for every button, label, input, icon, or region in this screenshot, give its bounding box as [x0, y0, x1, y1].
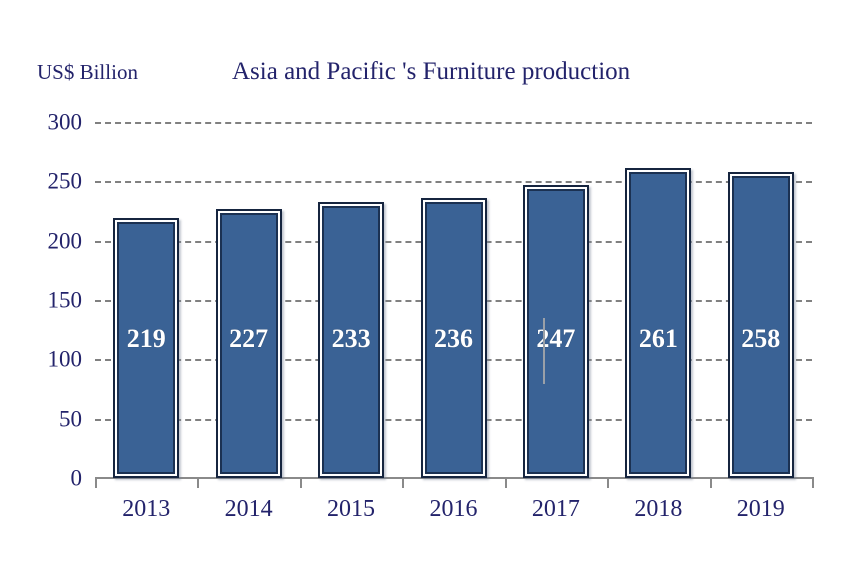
y-axis-tick-label: 0 [22, 467, 82, 490]
bar-value-label: 258 [730, 324, 792, 354]
y-axis-tick-label: 300 [22, 111, 82, 134]
bar[interactable]: 233 [318, 202, 384, 478]
bars-layer: 219227233236247261258 [95, 122, 812, 478]
bar-value-label: 233 [320, 324, 382, 354]
x-axis-tick [812, 477, 814, 488]
bar-value-label: 227 [218, 324, 280, 354]
x-axis-category-label: 2017 [505, 495, 607, 524]
x-axis-tick [95, 477, 97, 488]
y-axis-tick-label: 150 [22, 289, 82, 312]
bar[interactable]: 236 [421, 198, 487, 478]
x-axis-category-label: 2018 [607, 495, 709, 524]
y-axis-tick-labels: 300250200150100500 [22, 122, 82, 478]
bar[interactable]: 261 [625, 168, 691, 478]
y-axis-unit-label: US$ Billion [37, 60, 138, 85]
text-caret-artifact [543, 318, 545, 384]
x-axis-tick [300, 477, 302, 488]
bar-value-label: 236 [423, 324, 485, 354]
x-axis-category-label: 2013 [95, 495, 197, 524]
x-axis-tick [402, 477, 404, 488]
x-axis-category-label: 2014 [197, 495, 299, 524]
x-axis-category-labels: 2013201420152016201720182019 [95, 495, 812, 535]
x-axis-category-label: 2016 [402, 495, 504, 524]
x-axis-tick [710, 477, 712, 488]
bar-value-label: 247 [525, 324, 587, 354]
bar[interactable]: 258 [728, 172, 794, 478]
x-axis-tick [505, 477, 507, 488]
x-axis-tick [197, 477, 199, 488]
bar[interactable]: 227 [216, 209, 282, 478]
x-axis-category-label: 2019 [710, 495, 812, 524]
bar[interactable]: 247 [523, 185, 589, 478]
y-axis-tick-label: 200 [22, 229, 82, 252]
x-axis-tick [607, 477, 609, 488]
y-axis-tick-label: 100 [22, 348, 82, 371]
y-axis-tick-label: 250 [22, 170, 82, 193]
x-axis-category-label: 2015 [300, 495, 402, 524]
chart-title: Asia and Pacific 's Furniture production [232, 58, 630, 86]
bar-value-label: 261 [627, 324, 689, 354]
bar-value-label: 219 [115, 324, 177, 354]
y-axis-tick-label: 50 [22, 407, 82, 430]
chart-container: US$ Billion Asia and Pacific 's Furnitur… [0, 0, 846, 566]
bar[interactable]: 219 [113, 218, 179, 478]
